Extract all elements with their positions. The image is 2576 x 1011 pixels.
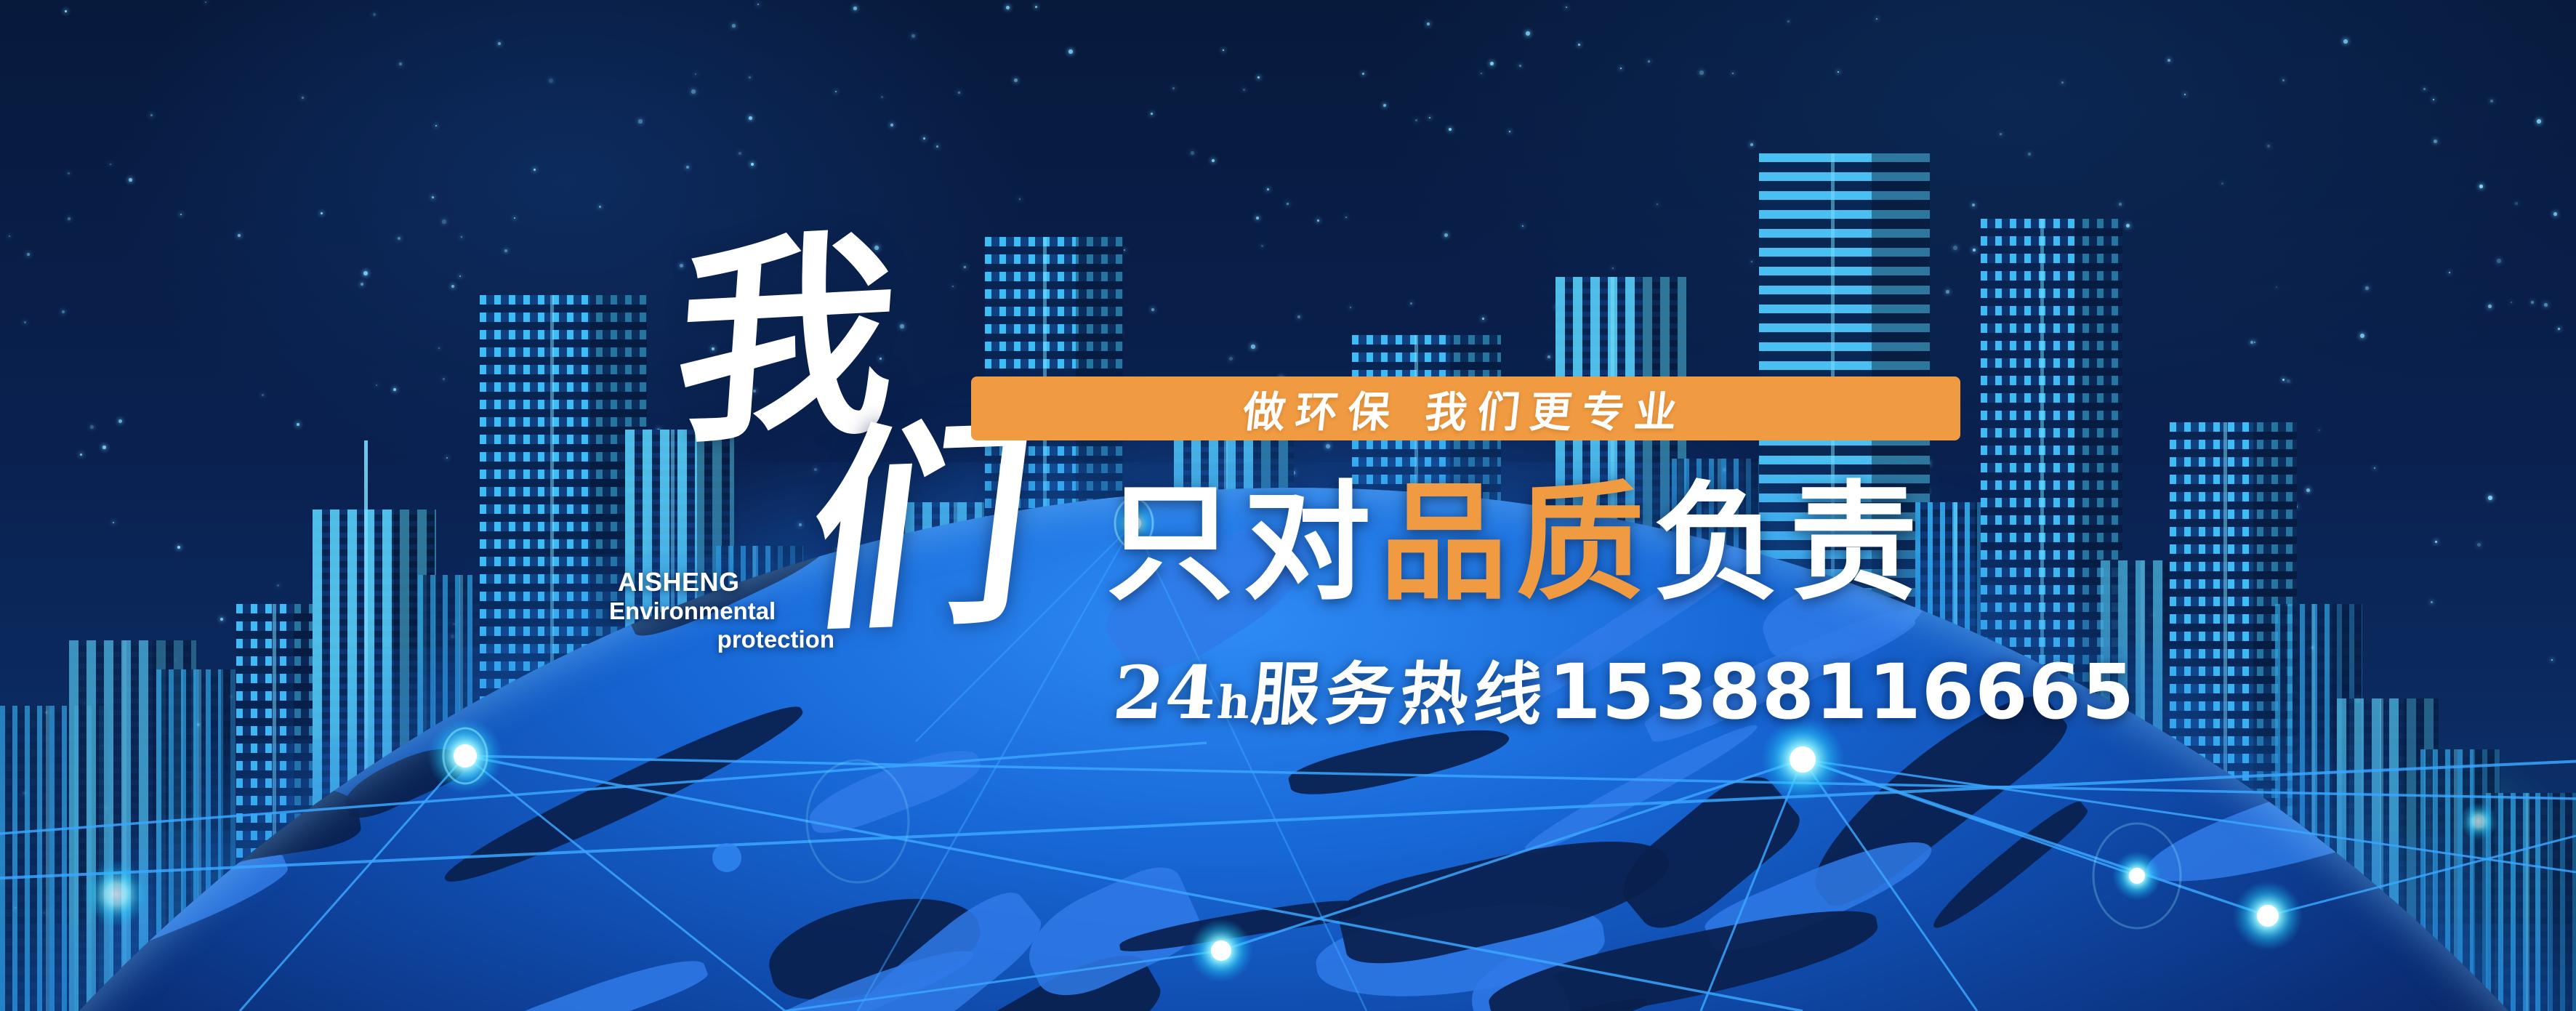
headline: 只对品质负责	[1106, 480, 1926, 608]
hotline-label: 服务热线	[1249, 661, 1551, 729]
hotline-phone-number[interactable]: 15388116665	[1548, 654, 2135, 730]
headline-segment-3: 负责	[1653, 469, 1926, 618]
content-layer: 我 们 AISHENG Environmental protection 做环保…	[0, 0, 2576, 1011]
promotional-banner: 我 们 AISHENG Environmental protection 做环保…	[0, 0, 2576, 1011]
slogan-ribbon-text: 做环保 我们更专业	[1241, 378, 1691, 439]
slogan-ribbon: 做环保 我们更专业	[971, 376, 1960, 440]
headline-segment-1: 只对	[1106, 469, 1380, 618]
brand-lockup: AISHENG Environmental protection	[609, 567, 842, 654]
headline-segment-2: 品质	[1380, 469, 1653, 618]
brand-tagline-line1: Environmental	[609, 597, 842, 626]
brand-name-en: AISHENG	[609, 567, 842, 597]
hotline-hours-unit: h	[1215, 680, 1254, 725]
hotline-hours: 24	[1111, 656, 1221, 729]
brand-tagline-line2: protection	[609, 626, 842, 654]
hotline-row[interactable]: 24h服务热线15388116665	[1114, 654, 2135, 730]
